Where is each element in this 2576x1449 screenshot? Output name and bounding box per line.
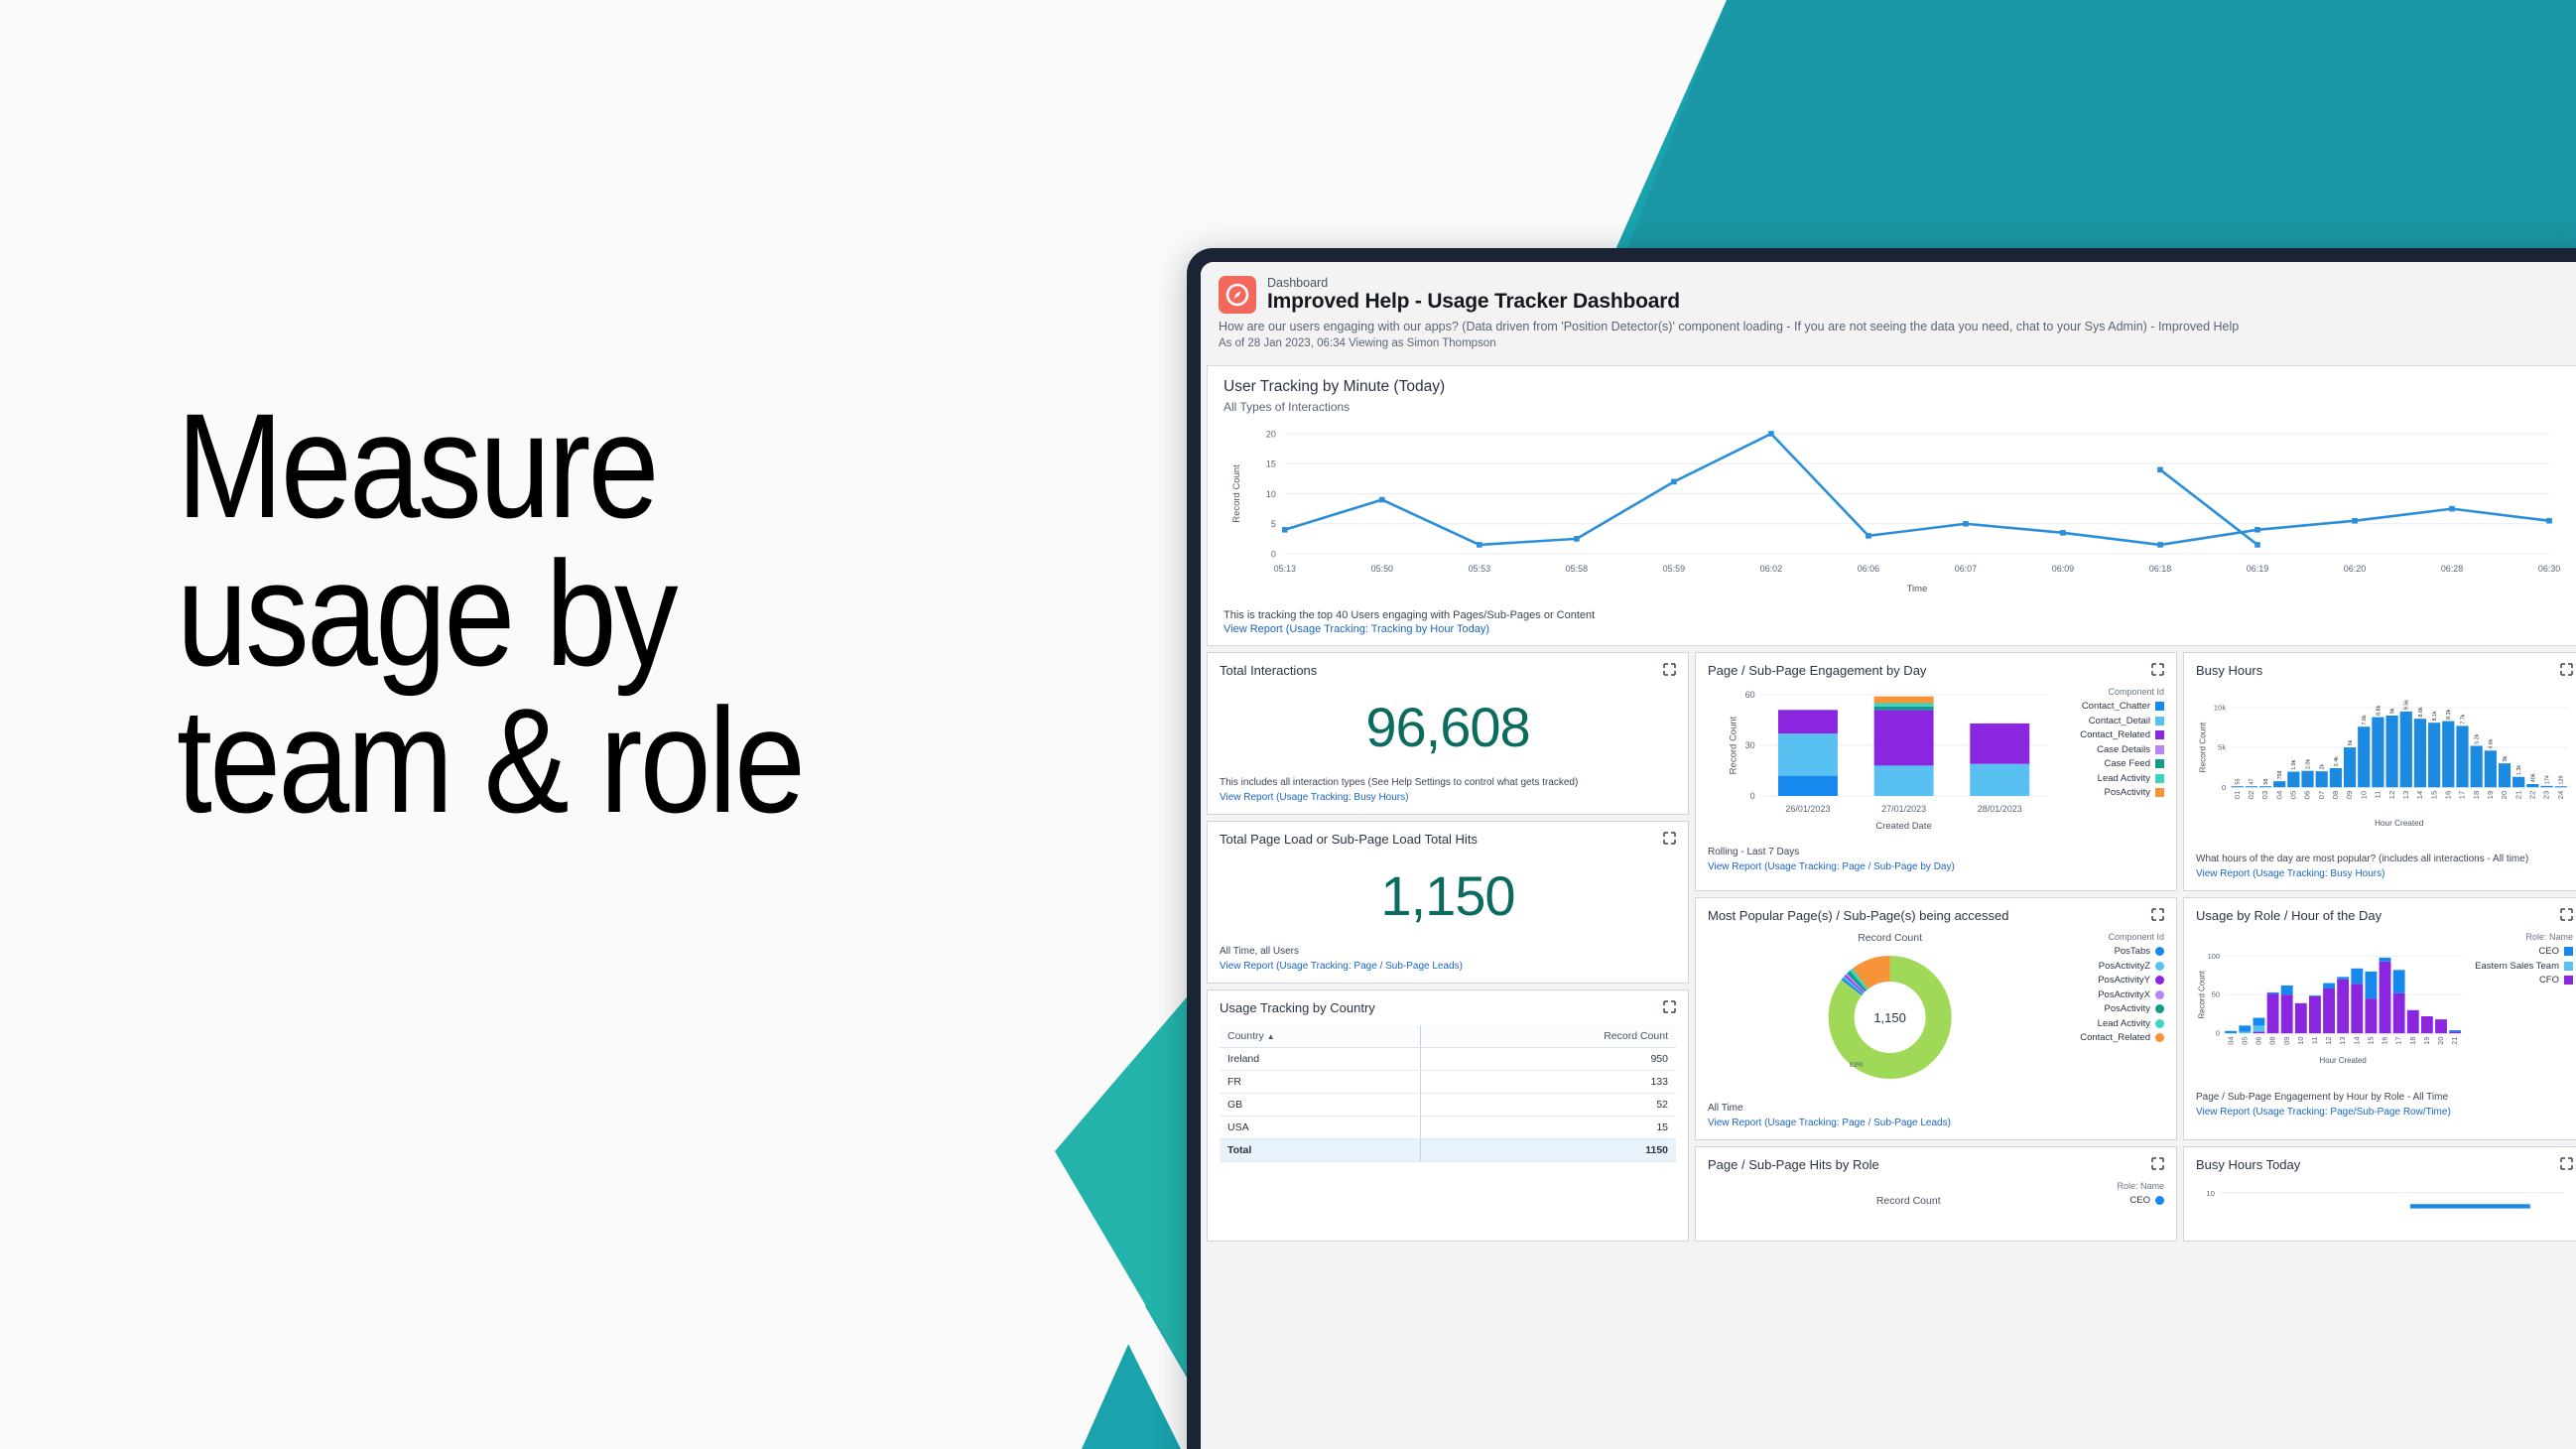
svg-text:04: 04 (2274, 790, 2283, 799)
svg-text:55: 55 (2236, 779, 2242, 785)
svg-text:14: 14 (2352, 1037, 2361, 1045)
dashboard-screen: Dashboard Improved Help - Usage Tracker … (1201, 262, 2576, 1449)
total-interactions-title: Total Interactions (1220, 663, 1317, 678)
svg-text:06:02: 06:02 (1760, 564, 1782, 574)
svg-text:1.9k: 1.9k (2291, 760, 2297, 770)
svg-text:4.6k: 4.6k (2489, 738, 2495, 748)
legend-swatch (2155, 976, 2164, 985)
svg-text:10: 10 (2296, 1037, 2305, 1045)
legend-label: PosActivity (2105, 787, 2150, 798)
legend-item[interactable]: PosActivityY (2080, 975, 2164, 986)
table-total-row: Total1150 (1220, 1139, 1676, 1162)
cell-country: USA (1220, 1117, 1421, 1139)
table-row[interactable]: Ireland950 (1220, 1048, 1676, 1071)
y-tick-label: 10 (2206, 1189, 2215, 1198)
column-header-country[interactable]: Country ▲ (1220, 1025, 1421, 1048)
cell-record-count: 950 (1421, 1048, 1676, 1071)
svg-text:Record Count: Record Count (1729, 717, 1739, 775)
svg-text:Record Count: Record Count (1231, 464, 1242, 523)
svg-text:17: 17 (2394, 1037, 2403, 1045)
svg-text:05:50: 05:50 (1371, 564, 1393, 574)
headline-line-3: team & role (177, 687, 996, 835)
hits-by-role-legend: Role: Name CEO (2109, 1181, 2164, 1210)
svg-text:50: 50 (2212, 990, 2220, 999)
expand-icon[interactable] (1663, 832, 1676, 850)
busy-hours-note: What hours of the day are most popular? … (2196, 854, 2528, 864)
expand-icon[interactable] (2151, 663, 2164, 681)
svg-text:05:59: 05:59 (1663, 564, 1685, 574)
busy-hours-today-card: Busy Hours Today 10 (2183, 1146, 2576, 1242)
legend-swatch (2155, 730, 2164, 739)
svg-text:0: 0 (1750, 791, 1755, 801)
expand-icon[interactable] (2151, 1157, 2164, 1175)
legend-label: PosActivityX (2098, 989, 2150, 1000)
legend-swatch (2155, 702, 2164, 711)
usage-by-role-report-link[interactable]: View Report (Usage Tracking: Page/Sub-Pa… (2196, 1106, 2573, 1120)
svg-text:2.4k: 2.4k (2334, 756, 2340, 766)
svg-text:47: 47 (2250, 779, 2255, 785)
svg-text:03: 03 (2260, 791, 2269, 800)
svg-text:06: 06 (2254, 1037, 2263, 1045)
user-tracking-subtitle: All Types of Interactions (1224, 400, 1445, 414)
legend-item[interactable]: Contact_Related (2080, 729, 2164, 740)
user-tracking-title: User Tracking by Minute (Today) (1224, 378, 1445, 396)
breadcrumb: Dashboard (1267, 276, 1680, 290)
svg-text:15: 15 (1266, 460, 1276, 469)
engagement-note: Rolling - Last 7 Days (1708, 847, 1799, 857)
svg-text:100: 100 (2208, 952, 2220, 961)
hits-by-role-chart-label: Record Count (1708, 1195, 2109, 1207)
legend-label: Lead Activity (2098, 1018, 2150, 1029)
svg-text:16: 16 (2443, 791, 2452, 800)
expand-icon[interactable] (1663, 663, 1676, 681)
svg-text:15: 15 (2366, 1037, 2375, 1045)
svg-text:Time: Time (1907, 584, 1928, 594)
svg-text:07: 07 (2317, 791, 2326, 800)
legend-swatch (2155, 1033, 2164, 1042)
svg-text:08: 08 (2331, 791, 2340, 800)
usage-by-role-card: Usage by Role / Hour of the Day 05010004… (2183, 897, 2576, 1140)
legend-item[interactable]: PosActivityX (2080, 989, 2164, 1000)
svg-text:5k: 5k (2218, 743, 2226, 752)
svg-text:7.7k: 7.7k (2460, 714, 2466, 724)
user-tracking-note: This is tracking the top 40 Users engagi… (1224, 609, 1595, 621)
svg-text:0: 0 (2222, 783, 2227, 792)
svg-text:758: 758 (2277, 771, 2283, 780)
svg-text:13: 13 (2338, 1037, 2347, 1045)
legend-label: Case Details (2097, 744, 2150, 755)
legend-swatch (2155, 1196, 2164, 1205)
svg-text:Record Count: Record Count (2199, 722, 2208, 772)
legend-swatch (2564, 947, 2573, 956)
svg-text:06:20: 06:20 (2344, 564, 2366, 574)
svg-text:27/01/2023: 27/01/2023 (1881, 804, 1926, 814)
legend-label: Contact_Chatter (2082, 701, 2150, 712)
legend-label: Eastern Sales Team (2475, 961, 2559, 972)
expand-icon[interactable] (2151, 908, 2164, 926)
cell-total-label: Total (1220, 1139, 1421, 1162)
cell-country: Ireland (1220, 1048, 1421, 1071)
country-table-card: Usage Tracking by Country Country ▲ Reco… (1207, 989, 1689, 1242)
svg-text:08: 08 (2268, 1037, 2277, 1045)
most-popular-report-link[interactable]: View Report (Usage Tracking: Page / Sub-… (1708, 1117, 2164, 1131)
total-page-load-report-link[interactable]: View Report (Usage Tracking: Page / Sub-… (1220, 960, 1676, 975)
svg-text:2.0k: 2.0k (2305, 759, 2311, 769)
page-title: Measure usage by team & role (177, 392, 996, 835)
svg-text:05: 05 (2240, 1037, 2249, 1045)
svg-text:13: 13 (2401, 791, 2410, 800)
svg-text:18: 18 (2408, 1037, 2417, 1045)
legend-item[interactable]: Case Details (2080, 744, 2164, 755)
legend-label: Contact_Detail (2089, 716, 2150, 726)
svg-text:06:09: 06:09 (2052, 564, 2074, 574)
svg-text:10: 10 (1266, 489, 1276, 499)
svg-text:5: 5 (1271, 519, 1276, 529)
legend-item[interactable]: PosActivity (2080, 787, 2164, 798)
total-page-load-title: Total Page Load or Sub-Page Load Total H… (1220, 832, 1478, 847)
legend-item[interactable]: PosActivityZ (2080, 961, 2164, 972)
svg-text:09: 09 (2345, 791, 2354, 800)
legend-item[interactable]: Lead Activity (2080, 1018, 2164, 1029)
dashboard-title: Improved Help - Usage Tracker Dashboard (1267, 290, 1680, 314)
svg-text:21: 21 (2513, 791, 2522, 800)
svg-text:20: 20 (2436, 1037, 2445, 1045)
legend-title: Role: Name (2117, 1181, 2164, 1191)
legend-label: Lead Activity (2098, 773, 2150, 784)
legend-title: Component Id (2080, 687, 2164, 697)
legend-swatch (2155, 990, 2164, 999)
svg-text:129: 129 (2559, 776, 2565, 785)
svg-text:18: 18 (2472, 791, 2481, 800)
most-popular-legend: Component Id PosTabsPosActivityZPosActiv… (2072, 932, 2164, 1095)
total-page-load-card: Total Page Load or Sub-Page Load Total H… (1207, 821, 1689, 984)
legend-swatch (2155, 774, 2164, 783)
svg-text:5.2k: 5.2k (2475, 734, 2481, 744)
usage-by-role-note: Page / Sub-Page Engagement by Hour by Ro… (2196, 1092, 2448, 1103)
busy-hours-report-link[interactable]: View Report (Usage Tracking: Busy Hours) (2196, 867, 2573, 882)
svg-text:06:07: 06:07 (1955, 564, 1977, 574)
legend-swatch (2155, 717, 2164, 725)
legend-swatch (2564, 976, 2573, 985)
legend-title: Component Id (2080, 932, 2164, 942)
svg-text:06:28: 06:28 (2441, 564, 2463, 574)
engagement-by-day-card: Page / Sub-Page Engagement by Day 030602… (1695, 652, 2177, 891)
svg-text:11: 11 (2374, 791, 2383, 799)
column-header-record-count[interactable]: Record Count (1421, 1025, 1676, 1048)
svg-text:10k: 10k (2214, 704, 2227, 713)
total-page-load-value: 1,150 (1220, 850, 1676, 938)
svg-text:06:06: 06:06 (1858, 564, 1879, 574)
svg-text:28/01/2023: 28/01/2023 (1978, 804, 2022, 814)
svg-text:60: 60 (1745, 690, 1755, 700)
engagement-legend: Component Id Contact_ChatterContact_Deta… (2072, 687, 2164, 839)
svg-text:05:58: 05:58 (1566, 564, 1588, 574)
widget-grid: Page / Sub-Page Engagement by Day 030602… (1201, 646, 2576, 1248)
legend-swatch (2155, 788, 2164, 797)
expand-icon[interactable] (2560, 908, 2573, 926)
svg-text:09: 09 (2282, 1037, 2291, 1045)
svg-text:04: 04 (2226, 1037, 2235, 1045)
user-tracking-card: User Tracking by Minute (Today) All Type… (1207, 365, 2576, 646)
legend-swatch (2564, 962, 2573, 971)
legend-label: Contact_Related (2080, 729, 2150, 740)
svg-text:Hour Created: Hour Created (2320, 1056, 2367, 1065)
svg-text:05:13: 05:13 (1274, 564, 1296, 574)
svg-text:30: 30 (1745, 740, 1755, 750)
svg-text:5k: 5k (2348, 740, 2354, 746)
table-row[interactable]: FR133 (1220, 1071, 1676, 1094)
compass-gauge-icon (1219, 276, 1256, 314)
busy-hours-card: Busy Hours 05k10k550147025803758041.9k05… (2183, 652, 2576, 891)
most-popular-note: All Time (1708, 1103, 1743, 1114)
sort-asc-icon[interactable]: ▲ (1267, 1032, 1275, 1041)
legend-label: Case Feed (2105, 758, 2150, 769)
most-popular-chart-label: Record Count (1708, 932, 2072, 944)
svg-text:83%: 83% (1850, 1062, 1864, 1069)
dashboard-description: How are our users engaging with our apps… (1219, 320, 2574, 333)
hits-by-role-title: Page / Sub-Page Hits by Role (1708, 1157, 1879, 1172)
cell-record-count: 133 (1421, 1071, 1676, 1094)
cell-country: FR (1220, 1071, 1421, 1094)
svg-text:174: 174 (2544, 775, 2550, 784)
total-interactions-report-link[interactable]: View Report (Usage Tracking: Busy Hours) (1220, 791, 1676, 806)
svg-text:19: 19 (2486, 791, 2495, 800)
svg-text:15: 15 (2429, 791, 2438, 800)
legend-label: CEO (2538, 946, 2559, 957)
legend-item[interactable]: CFO (2475, 975, 2573, 986)
svg-text:14: 14 (2415, 790, 2424, 799)
svg-text:02: 02 (2247, 791, 2255, 800)
svg-text:21: 21 (2450, 1037, 2459, 1045)
svg-text:05: 05 (2289, 791, 2298, 800)
total-page-load-note: All Time, all Users (1220, 946, 1299, 957)
country-table-title: Usage Tracking by Country (1220, 1000, 1375, 1015)
svg-text:06:30: 06:30 (2538, 564, 2560, 574)
svg-text:9.5k: 9.5k (2404, 700, 2410, 710)
legend-item[interactable]: PosTabs (2080, 946, 2164, 957)
svg-text:22: 22 (2528, 791, 2537, 800)
svg-text:58: 58 (2263, 779, 2269, 785)
legend-label: PosActivityY (2098, 975, 2150, 986)
total-interactions-card: Total Interactions 96,608 This includes … (1207, 652, 1689, 815)
cell-country: GB (1220, 1094, 1421, 1117)
legend-item[interactable]: Case Feed (2080, 758, 2164, 769)
headline-line-1: Measure (177, 392, 996, 540)
hits-by-role-card: Page / Sub-Page Hits by Role Record Coun… (1695, 1146, 2177, 1242)
svg-text:7.6k: 7.6k (2362, 715, 2368, 724)
legend-swatch (2155, 962, 2164, 971)
right-column: Total Interactions 96,608 This includes … (1207, 652, 1689, 1242)
dashboard-header: Dashboard Improved Help - Usage Tracker … (1201, 262, 2576, 359)
legend-item[interactable]: CEO (2475, 946, 2573, 957)
svg-text:406: 406 (2530, 774, 2536, 783)
svg-text:Record Count: Record Count (2197, 970, 2206, 1018)
legend-title: Role: Name (2475, 932, 2573, 942)
most-popular-card: Most Popular Page(s) / Sub-Page(s) being… (1695, 897, 2177, 1140)
svg-text:12: 12 (2387, 791, 2396, 800)
total-interactions-value: 96,608 (1220, 681, 1676, 769)
legend-item[interactable]: Contact_Chatter (2080, 701, 2164, 712)
svg-text:10: 10 (2359, 790, 2368, 799)
table-header-row: Country ▲ Record Count (1220, 1025, 1676, 1048)
expand-icon[interactable] (2560, 663, 2573, 681)
svg-text:17: 17 (2458, 791, 2467, 800)
svg-text:16: 16 (2381, 1037, 2389, 1045)
svg-text:05:53: 05:53 (1469, 564, 1490, 574)
engagement-report-link[interactable]: View Report (Usage Tracking: Page / Sub-… (1708, 860, 2164, 875)
svg-text:8.1k: 8.1k (2432, 711, 2438, 721)
legend-item[interactable]: Eastern Sales Team (2475, 961, 2573, 972)
headline-line-2: usage by (177, 540, 996, 688)
expand-icon[interactable] (1663, 1000, 1676, 1018)
svg-text:2k: 2k (2320, 764, 2326, 770)
svg-text:8.3k: 8.3k (2446, 710, 2452, 720)
svg-text:8.8k: 8.8k (2376, 706, 2382, 716)
svg-text:Created Date: Created Date (1875, 821, 1932, 832)
busy-hours-today-chart: 10 (2196, 1181, 2573, 1225)
table-row[interactable]: USA15 (1220, 1117, 1676, 1139)
svg-text:3k: 3k (2503, 756, 2509, 762)
svg-text:23: 23 (2542, 791, 2551, 800)
svg-text:1,150: 1,150 (1873, 1010, 1906, 1025)
svg-text:20: 20 (2500, 790, 2509, 799)
user-tracking-chart: 0510152005:1305:5005:5305:5805:5906:0206… (1224, 424, 2569, 597)
usage-by-role-legend: Role: Name CEOEastern Sales TeamCFO (2467, 932, 2573, 1084)
svg-text:01: 01 (2233, 791, 2242, 800)
legend-item[interactable]: Contact_Detail (2080, 716, 2164, 726)
country-table: Country ▲ Record Count Ireland950FR133GB… (1220, 1025, 1676, 1162)
legend-label: Contact_Related (2080, 1032, 2150, 1043)
svg-text:19: 19 (2422, 1037, 2431, 1045)
engagement-by-day-title: Page / Sub-Page Engagement by Day (1708, 663, 1926, 678)
legend-swatch (2155, 745, 2164, 754)
legend-swatch (2155, 947, 2164, 956)
svg-text:24: 24 (2556, 790, 2565, 799)
svg-text:9k: 9k (2389, 708, 2395, 714)
legend-item[interactable]: Contact_Related (2080, 1032, 2164, 1043)
svg-text:06: 06 (2303, 791, 2312, 800)
cell-record-count: 15 (1421, 1117, 1676, 1139)
legend-item[interactable]: CEO (2117, 1195, 2164, 1206)
svg-text:8.6k: 8.6k (2418, 707, 2424, 717)
legend-label: PosTabs (2115, 946, 2150, 957)
svg-text:0: 0 (2216, 1029, 2220, 1038)
busy-hours-title: Busy Hours (2196, 663, 2262, 678)
legend-swatch (2155, 759, 2164, 768)
legend-label: CEO (2129, 1195, 2150, 1206)
legend-swatch (2155, 1019, 2164, 1028)
svg-text:1.3k: 1.3k (2516, 765, 2522, 775)
svg-text:Hour Created: Hour Created (2375, 819, 2424, 828)
total-interactions-note: This includes all interaction types (See… (1220, 777, 1578, 788)
user-tracking-report-link[interactable]: View Report (Usage Tracking: Tracking by… (1224, 623, 2569, 635)
dashboard-meta: As of 28 Jan 2023, 06:34 Viewing as Simo… (1219, 337, 2574, 349)
svg-text:12: 12 (2324, 1037, 2333, 1045)
legend-label: PosActivityZ (2099, 961, 2150, 972)
teal-wedge-top-dark (1627, 0, 2576, 248)
cell-record-count: 52 (1421, 1094, 1676, 1117)
device-frame: Dashboard Improved Help - Usage Tracker … (1187, 248, 2576, 1449)
most-popular-title: Most Popular Page(s) / Sub-Page(s) being… (1708, 908, 2009, 923)
expand-icon[interactable] (2560, 1157, 2573, 1175)
legend-label: CFO (2539, 975, 2559, 986)
svg-text:11: 11 (2310, 1037, 2319, 1045)
legend-item[interactable]: PosActivity (2080, 1003, 2164, 1014)
svg-text:0: 0 (1271, 550, 1276, 560)
cell-total-value: 1150 (1421, 1139, 1676, 1162)
svg-text:26/01/2023: 26/01/2023 (1785, 804, 1830, 814)
busy-hours-today-title: Busy Hours Today (2196, 1157, 2300, 1172)
legend-swatch (2155, 1004, 2164, 1013)
svg-text:06:18: 06:18 (2149, 564, 2171, 574)
svg-text:20: 20 (1266, 430, 1276, 440)
usage-by-role-title: Usage by Role / Hour of the Day (2196, 908, 2382, 923)
svg-text:06:19: 06:19 (2247, 564, 2268, 574)
legend-item[interactable]: Lead Activity (2080, 773, 2164, 784)
legend-label: PosActivity (2105, 1003, 2150, 1014)
table-row[interactable]: GB52 (1220, 1094, 1676, 1117)
